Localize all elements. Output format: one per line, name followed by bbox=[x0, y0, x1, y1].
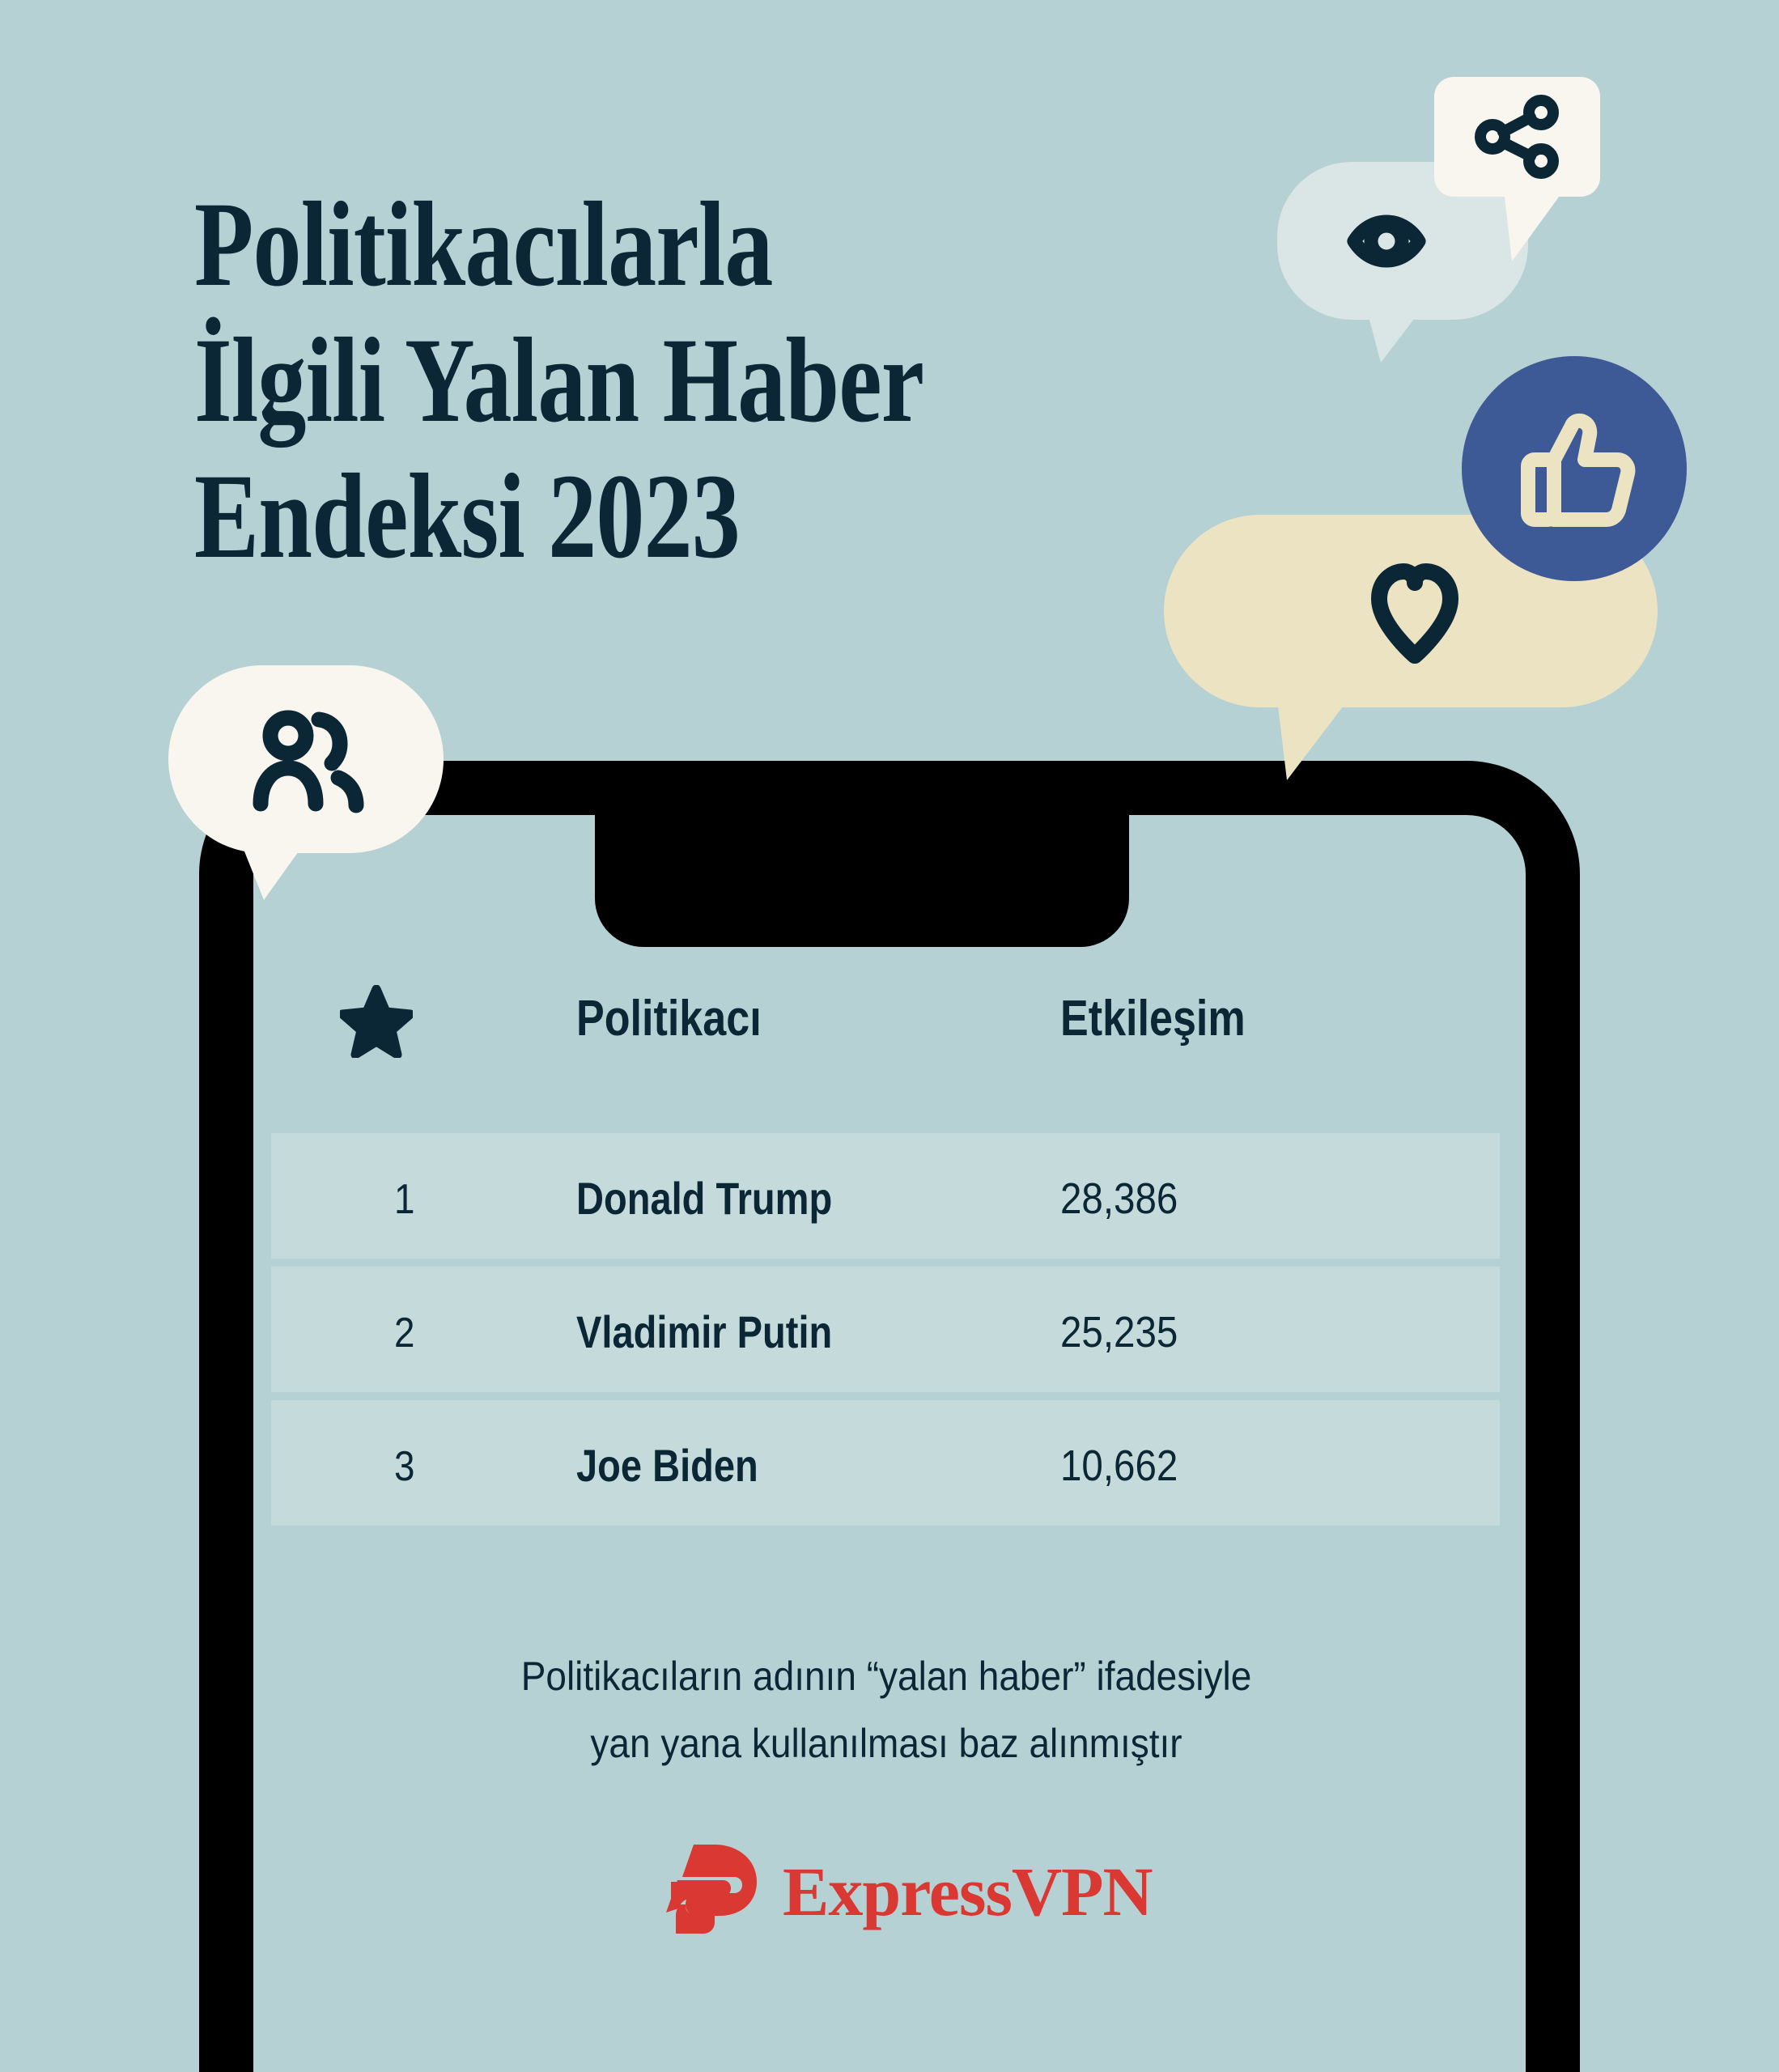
column-header-engagement: Etkileşim bbox=[1060, 990, 1246, 1047]
table-row[interactable]: 2 Vladimir Putin 25,235 bbox=[271, 1267, 1500, 1392]
table-row[interactable]: 1 Donald Trump 28,386 bbox=[271, 1133, 1500, 1259]
share-bubble bbox=[1434, 77, 1612, 283]
star-icon bbox=[340, 985, 413, 1058]
cell-engagement: 28,386 bbox=[1060, 1174, 1178, 1224]
table-header-row: Politikacı Etkileşim bbox=[271, 967, 1500, 1133]
methodology-caption: Politikacıların adının “yalan haber” ifa… bbox=[332, 1643, 1441, 1777]
cell-politician: Donald Trump bbox=[576, 1172, 832, 1225]
infographic-root: Politikacılarla İlgili Yalan Haber Endek… bbox=[0, 0, 1779, 2072]
cell-engagement: 25,235 bbox=[1060, 1307, 1178, 1357]
like-circle bbox=[1462, 356, 1687, 585]
ranking-table: Politikacı Etkileşim 1 Donald Trump 28,3… bbox=[271, 967, 1500, 1534]
cell-politician: Vladimir Putin bbox=[576, 1306, 832, 1358]
expressvpn-mark-icon bbox=[666, 1841, 762, 1941]
table-row[interactable]: 3 Joe Biden 10,662 bbox=[271, 1400, 1500, 1526]
users-bubble bbox=[168, 665, 444, 912]
cell-rank: 3 bbox=[394, 1442, 414, 1491]
cell-rank: 1 bbox=[394, 1175, 414, 1224]
expressvpn-wordmark: ExpressVPN bbox=[783, 1857, 1153, 1926]
expressvpn-logo[interactable]: ExpressVPN bbox=[666, 1841, 1153, 1941]
column-header-politician: Politikacı bbox=[576, 990, 762, 1047]
cell-politician: Joe Biden bbox=[576, 1439, 758, 1492]
cell-engagement: 10,662 bbox=[1060, 1441, 1178, 1491]
cell-rank: 2 bbox=[394, 1309, 414, 1357]
